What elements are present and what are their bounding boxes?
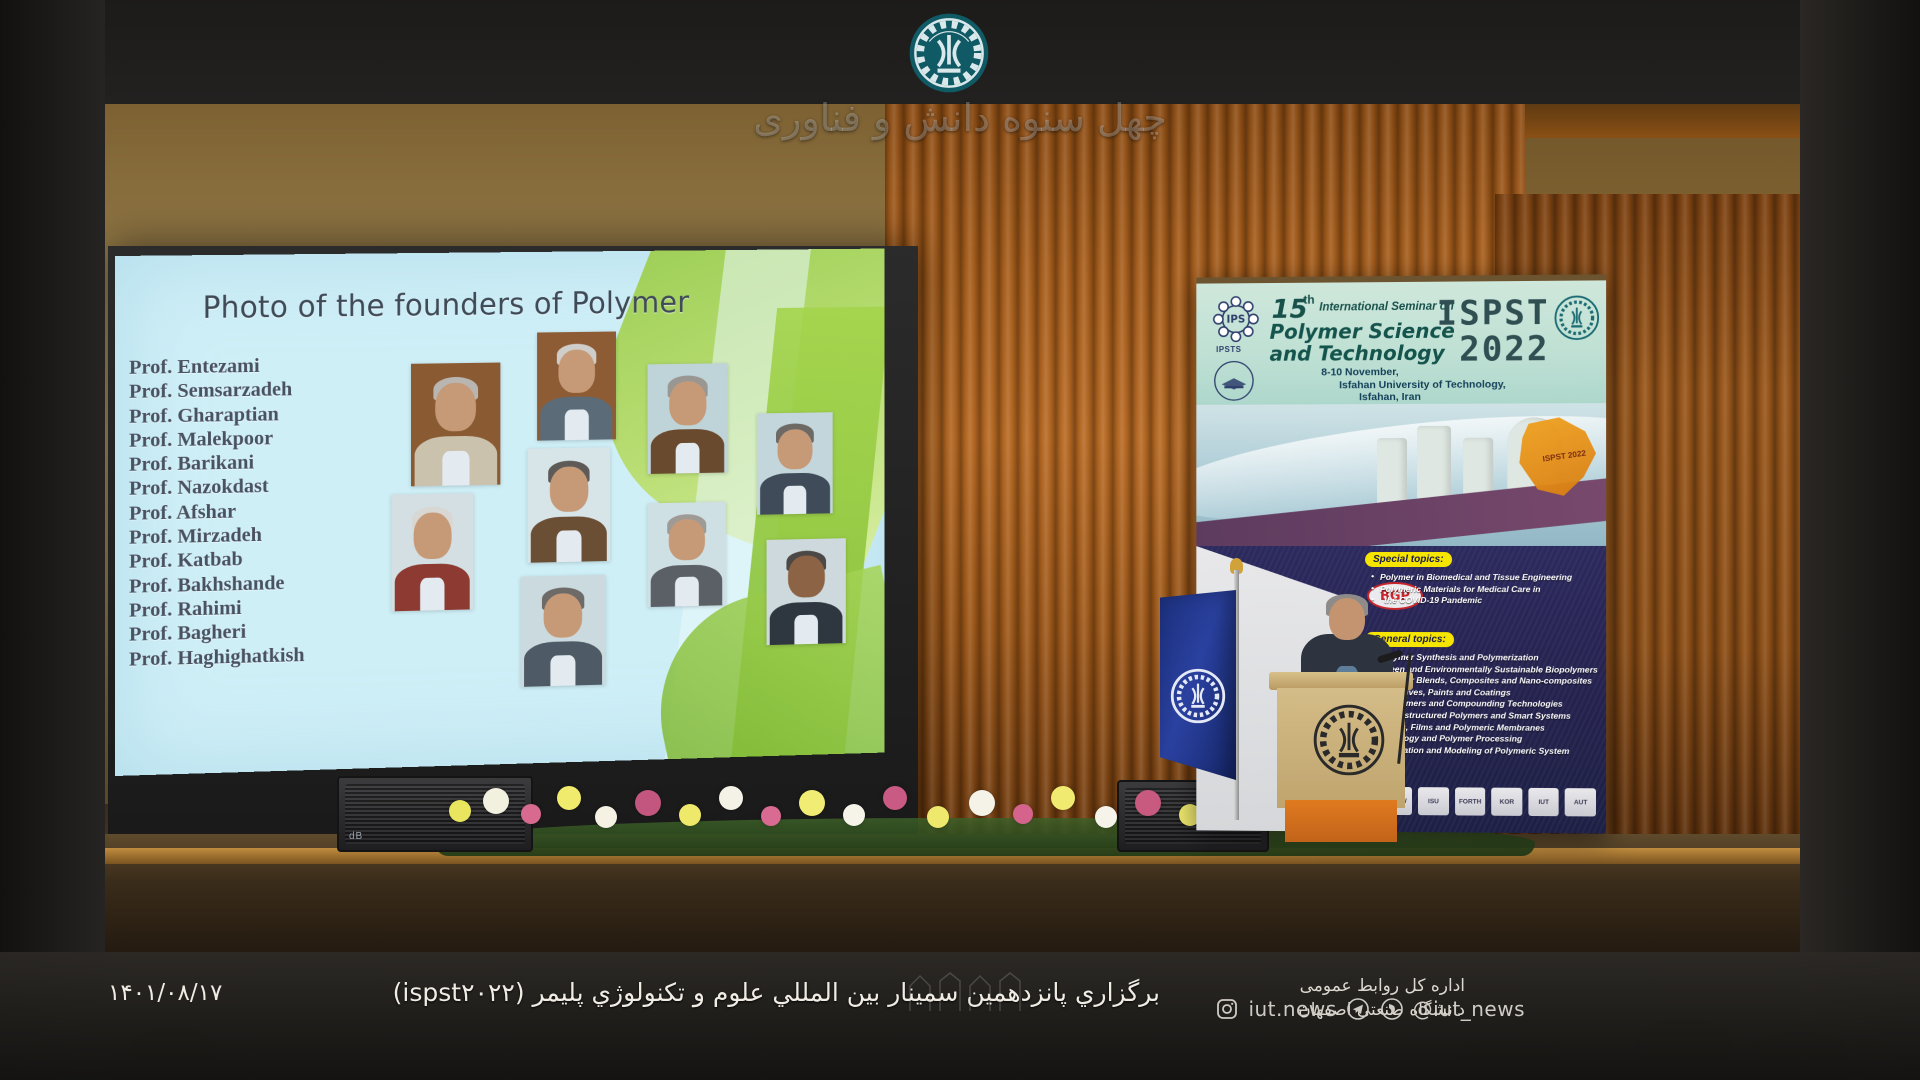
svg-text:IPS: IPS — [1226, 314, 1245, 326]
flower — [595, 806, 617, 828]
founder-portrait — [757, 412, 833, 515]
list-item: Polymer Synthesis and Polymerization — [1371, 652, 1598, 664]
flower — [761, 806, 781, 826]
poster-venue: Isfahan University of Technology, — [1321, 378, 1506, 392]
bale-icon[interactable] — [1379, 996, 1405, 1022]
iut-flag — [1160, 570, 1242, 820]
founder-portrait — [527, 447, 610, 563]
telegram-icon[interactable] — [1345, 996, 1371, 1022]
isode-logo — [1212, 359, 1256, 403]
iut-gear-icon — [1554, 294, 1600, 341]
social-links[interactable]: iut.news @iut_news — [1214, 996, 1525, 1022]
poster-year: 2022 — [1459, 329, 1549, 370]
poster-acronym: ISPST — [1437, 293, 1550, 334]
sponsor-logo: ISU — [1418, 787, 1449, 815]
poster-city: Isfahan, Iran — [1321, 391, 1506, 404]
speaker-head — [1329, 598, 1365, 640]
decorative-glyph — [900, 966, 1030, 1016]
ips-society-logo: IPS — [1210, 293, 1261, 345]
flower — [1051, 786, 1075, 810]
poster-title: Polymer Science and Technology — [1270, 320, 1455, 365]
frame-right — [1800, 0, 1920, 1080]
list-item: Polymeric Materials for Medical Care in — [1371, 584, 1572, 596]
sponsor-logo: IUT — [1528, 788, 1559, 816]
list-item: Simulation and Modeling of Polymeric Sys… — [1371, 745, 1598, 758]
iut-gear-icon — [1170, 668, 1226, 724]
sponsor-logo: KOR — [1491, 788, 1522, 816]
instagram-icon[interactable] — [1214, 996, 1240, 1022]
instagram-handle[interactable]: iut.news — [1248, 997, 1336, 1021]
poster-title-line1: Polymer Science — [1270, 320, 1455, 343]
iut-gear-icon — [1313, 704, 1385, 776]
footer-headline: برگزاري پانزدهمين سمينار بين المللي علوم… — [393, 978, 1160, 1007]
flower — [1013, 804, 1033, 824]
screenshot-root: Photo of the founders of Polymer Prof. E… — [0, 0, 1920, 1080]
poster-header: IPS IPSTS 15 th International Seminar on… — [1196, 280, 1606, 405]
list-item-continuation: the COVID-19 Pandemic — [1371, 595, 1572, 607]
flower — [719, 786, 743, 810]
founder-portrait — [767, 538, 846, 645]
founder-portrait — [648, 363, 728, 474]
presentation-slide: Photo of the founders of Polymer Prof. E… — [115, 249, 884, 776]
poster-date: 8-10 November, — [1321, 365, 1506, 379]
flower — [557, 786, 581, 810]
footer-bar: ۱۴۰۱/۰۸/۱۷ برگزاري پانزدهمين سمينار بين … — [0, 952, 1920, 1080]
footer-date: ۱۴۰۱/۰۸/۱۷ — [108, 980, 222, 1006]
flower — [679, 804, 701, 826]
poster-edition-suffix: th — [1303, 293, 1314, 307]
flower — [1135, 790, 1161, 816]
special-topics-label: Special topics: — [1365, 552, 1452, 567]
founders-name-list: Prof. Entezami Prof. Semsarzadeh Prof. G… — [129, 352, 415, 672]
pr-line-1: اداره کل روابط عمومی — [1298, 974, 1465, 998]
flower — [521, 804, 541, 824]
flower — [635, 790, 661, 816]
telegram-handle[interactable]: @iut_news — [1413, 997, 1525, 1021]
flower — [927, 806, 949, 828]
special-topics-list: Polymer in Biomedical and Tissue Enginee… — [1371, 572, 1572, 607]
sponsor-logo: FORTH — [1455, 787, 1486, 815]
founder-portrait — [521, 575, 606, 687]
sponsor-logo: AUT — [1565, 788, 1596, 816]
flower — [799, 790, 825, 816]
flower — [483, 788, 509, 814]
pa-brand-label: dB — [349, 831, 363, 842]
flower — [969, 790, 995, 816]
founder-portrait — [648, 502, 726, 607]
ipsts-label: IPSTS — [1216, 345, 1241, 354]
flag-cloth — [1160, 590, 1236, 780]
founder-portrait — [537, 331, 616, 440]
auditorium-photo: Photo of the founders of Polymer Prof. E… — [105, 104, 1800, 952]
poster-date-venue: 8-10 November, Isfahan University of Tec… — [1321, 365, 1506, 404]
list-item: Polymer in Biomedical and Tissue Enginee… — [1371, 572, 1572, 584]
podium-base — [1285, 800, 1397, 842]
flower — [449, 800, 471, 822]
poster-kicker: International Seminar on — [1319, 301, 1454, 314]
frame-left — [0, 0, 105, 1080]
podium — [1277, 672, 1405, 842]
flower — [883, 786, 907, 810]
founder-portrait — [391, 493, 473, 611]
poster-title-line2: and Technology — [1270, 342, 1455, 365]
flower — [1095, 806, 1117, 828]
slide-title: Photo of the founders of Polymer — [203, 286, 690, 326]
flower — [843, 804, 865, 826]
iut-gear-icon — [908, 12, 990, 94]
founder-portrait — [411, 363, 500, 487]
